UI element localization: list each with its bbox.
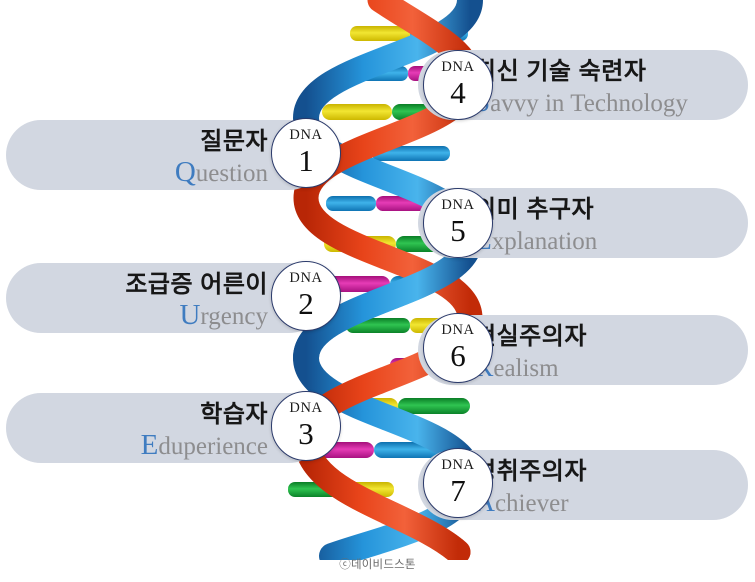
dna-badge-7[interactable]: DNA 7 bbox=[423, 448, 493, 518]
item-title-ko-2: 조급증 어른이 bbox=[6, 269, 268, 300]
item-title-en-1: Question bbox=[6, 157, 268, 189]
dna-badge-number-4: 4 bbox=[450, 76, 466, 109]
item-en-rest-5: xplanation bbox=[492, 228, 598, 255]
dna-badge-number-2: 2 bbox=[298, 287, 314, 320]
dna-badge-label-5: DNA bbox=[441, 198, 474, 213]
infographic-canvas: 질문자 Question DNA 1 조급증 어른이 Urgency DNA 2… bbox=[0, 0, 755, 582]
item-title-ko-6: 현실주의자 bbox=[474, 321, 748, 352]
item-accent-letter-1: Q bbox=[175, 156, 196, 188]
item-en-rest-1: uestion bbox=[196, 160, 268, 187]
dna-badge-number-6: 6 bbox=[450, 339, 466, 372]
dna-badge-1[interactable]: DNA 1 bbox=[271, 118, 341, 188]
dna-badge-label-1: DNA bbox=[289, 128, 322, 143]
item-title-en-3: Eduperience bbox=[6, 430, 268, 462]
dna-badge-label-3: DNA bbox=[289, 401, 322, 416]
item-en-rest-4: avvy in Technology bbox=[490, 90, 688, 117]
item-en-rest-6: ealism bbox=[493, 355, 558, 382]
dna-badge-label-4: DNA bbox=[441, 60, 474, 75]
item-title-en-4: Savvy in Technology bbox=[474, 87, 748, 119]
dna-badge-label-2: DNA bbox=[289, 271, 322, 286]
item-title-en-7: Achiever bbox=[474, 487, 748, 519]
item-title-ko-5: 의미 추구자 bbox=[474, 194, 748, 225]
item-title-ko-1: 질문자 bbox=[6, 126, 268, 157]
dna-badge-label-6: DNA bbox=[441, 323, 474, 338]
dna-badge-number-3: 3 bbox=[298, 417, 314, 450]
copyright-credit: ⓒ데이비드스톤 bbox=[0, 556, 755, 572]
dna-badge-6[interactable]: DNA 6 bbox=[423, 313, 493, 383]
item-en-rest-7: chiever bbox=[495, 490, 569, 517]
item-title-en-6: Realism bbox=[474, 352, 748, 384]
dna-badge-3[interactable]: DNA 3 bbox=[271, 391, 341, 461]
item-title-ko-4: 최신 기술 숙련자 bbox=[474, 56, 748, 87]
dna-badge-5[interactable]: DNA 5 bbox=[423, 188, 493, 258]
item-title-ko-3: 학습자 bbox=[6, 399, 268, 430]
item-en-rest-2: rgency bbox=[200, 303, 268, 330]
dna-badge-number-1: 1 bbox=[298, 144, 314, 177]
item-accent-letter-2: U bbox=[179, 299, 200, 331]
item-title-en-5: Explanation bbox=[474, 225, 748, 257]
dna-badge-number-5: 5 bbox=[450, 214, 466, 247]
item-title-ko-7: 성취주의자 bbox=[474, 456, 748, 487]
item-en-rest-3: duperience bbox=[158, 433, 268, 460]
dna-badge-number-7: 7 bbox=[450, 474, 466, 507]
dna-badge-2[interactable]: DNA 2 bbox=[271, 261, 341, 331]
dna-badge-label-7: DNA bbox=[441, 458, 474, 473]
item-accent-letter-3: E bbox=[141, 429, 159, 461]
dna-badge-4[interactable]: DNA 4 bbox=[423, 50, 493, 120]
item-title-en-2: Urgency bbox=[6, 300, 268, 332]
